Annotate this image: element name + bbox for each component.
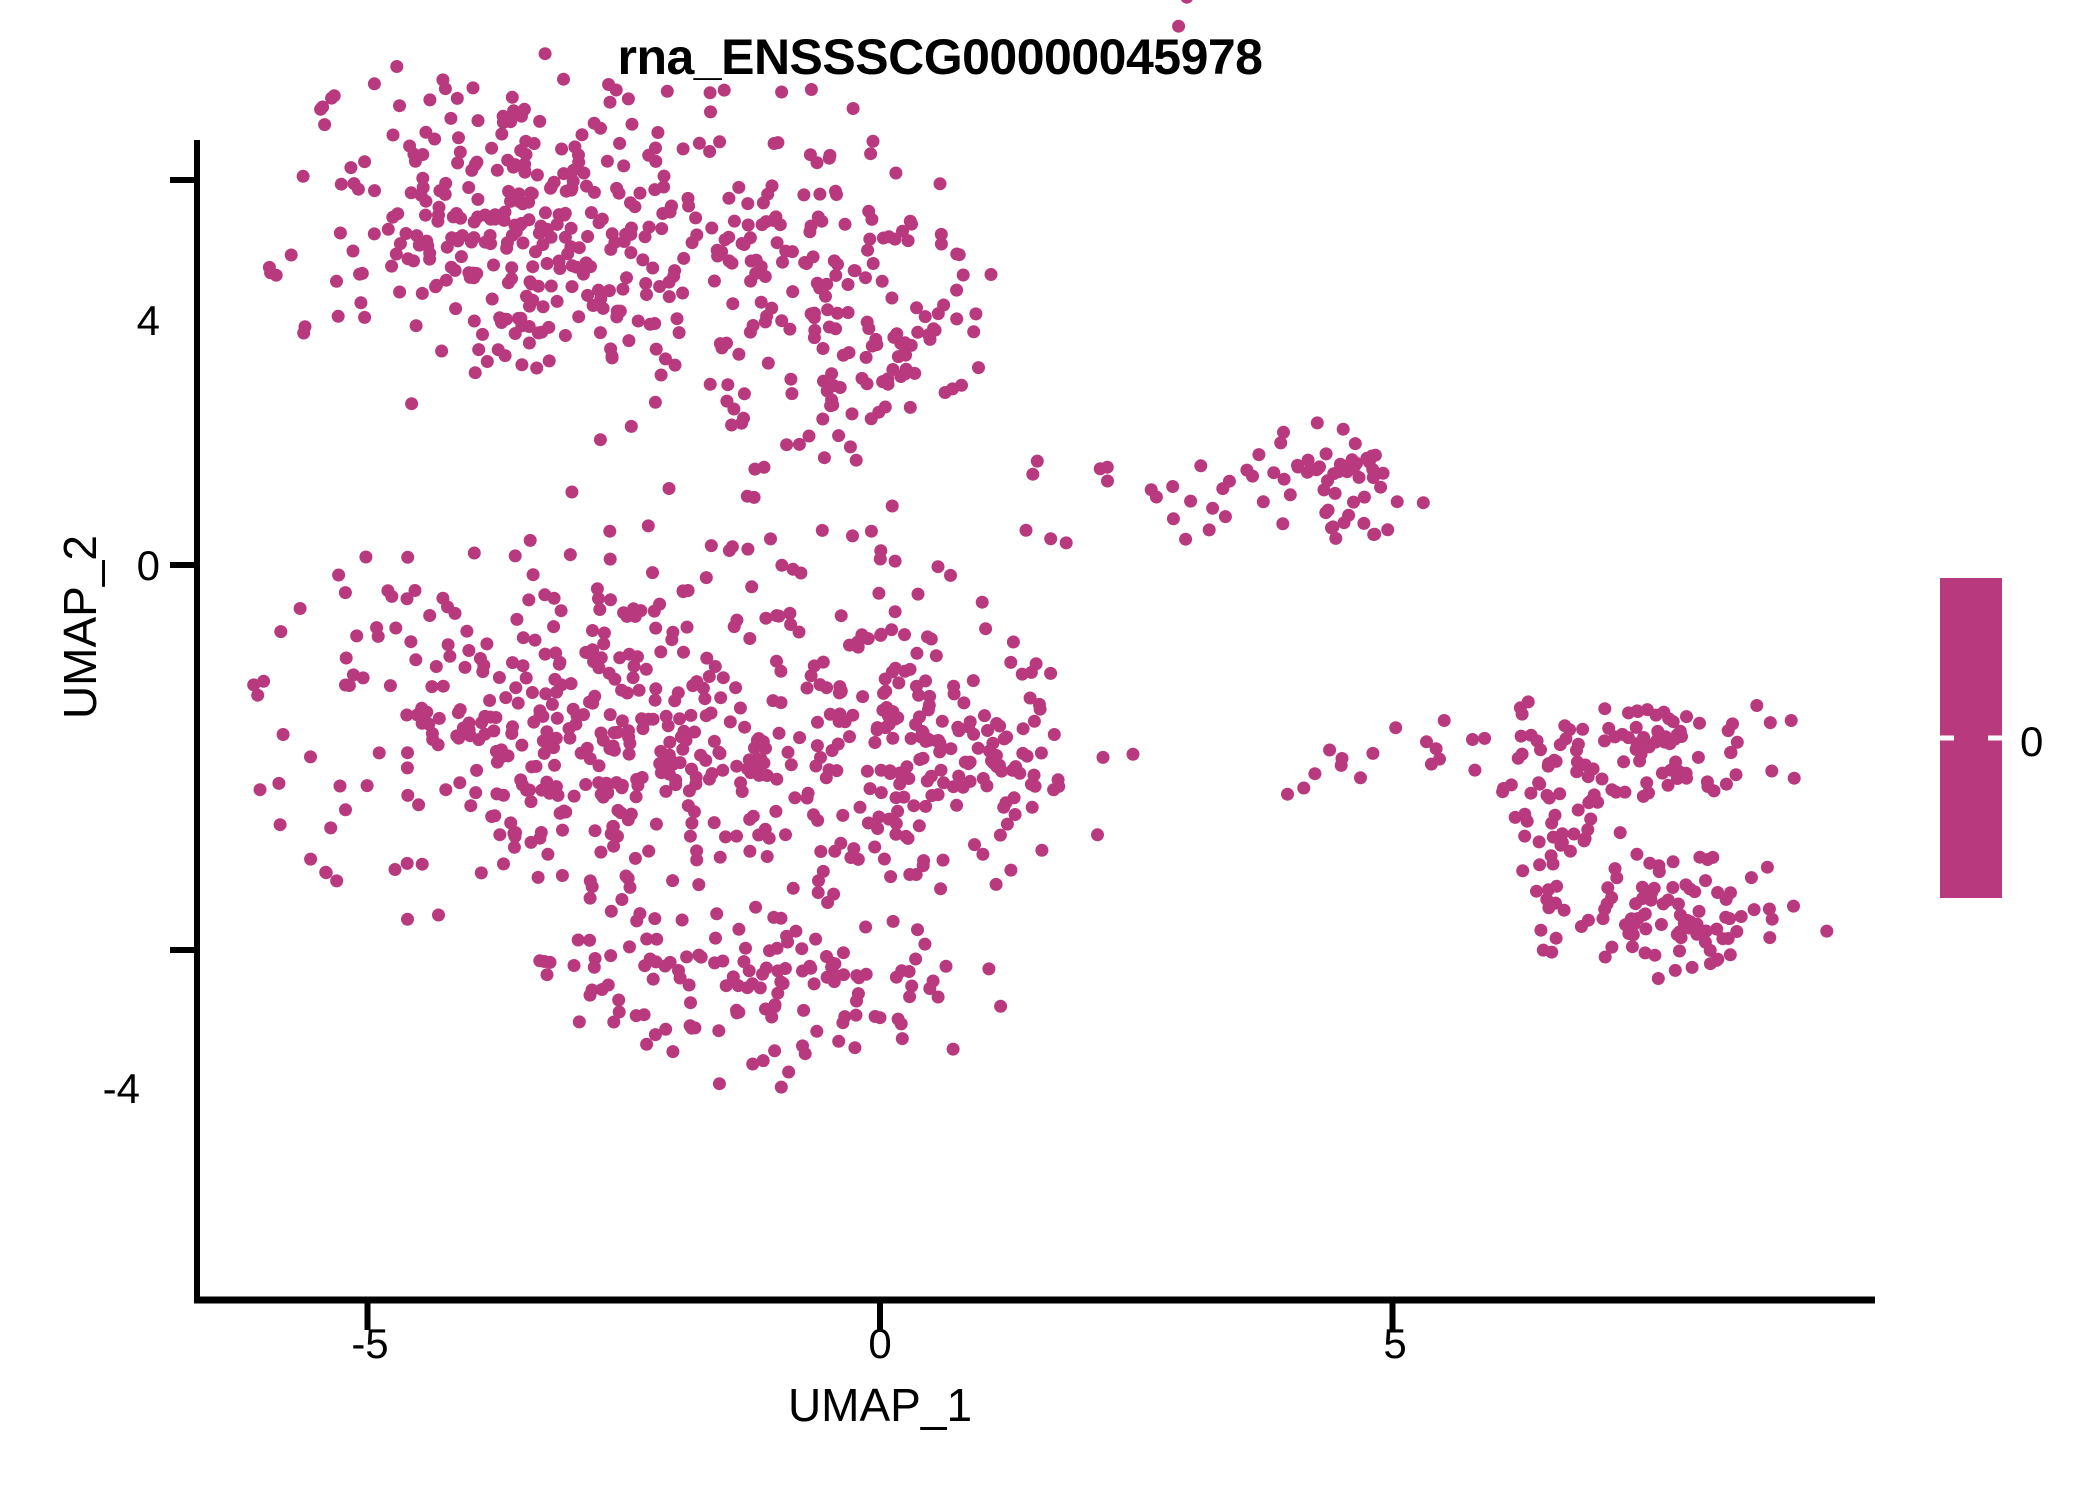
scatter-point <box>831 307 844 320</box>
scatter-point <box>709 660 722 673</box>
scatter-point <box>560 185 573 198</box>
scatter-point <box>304 750 317 763</box>
scatter-point <box>420 706 433 719</box>
scatter-point <box>409 653 422 666</box>
scatter-point <box>957 696 970 709</box>
scatter-point <box>515 319 528 332</box>
scatter-point <box>872 406 885 419</box>
scatter-point <box>937 299 950 312</box>
scatter-point <box>1257 495 1270 508</box>
scatter-point <box>589 824 602 837</box>
scatter-point <box>919 674 932 687</box>
scatter-point <box>669 359 682 372</box>
scatter-point <box>626 118 639 131</box>
scatter-point <box>389 622 402 635</box>
scatter-point <box>889 167 902 180</box>
scatter-point <box>274 818 287 831</box>
scatter-point <box>472 343 485 356</box>
scatter-point <box>385 260 398 273</box>
scatter-point <box>485 142 498 155</box>
scatter-point <box>991 760 1004 773</box>
scatter-point <box>1724 948 1737 961</box>
scatter-point <box>480 637 493 650</box>
scatter-point <box>738 721 751 734</box>
scatter-point <box>821 896 834 909</box>
scatter-point <box>475 866 488 879</box>
scatter-point <box>416 287 429 300</box>
x-tick-label-0: 0 <box>820 1320 940 1368</box>
scatter-point <box>373 746 386 759</box>
scatter-point <box>1028 715 1041 728</box>
scatter-point <box>809 933 822 946</box>
scatter-point <box>708 275 721 288</box>
scatter-point <box>743 632 756 645</box>
scatter-point <box>319 866 332 879</box>
x-tick-label-m5: -5 <box>310 1320 430 1368</box>
scatter-point <box>1533 835 1546 848</box>
scatter-point <box>631 650 644 663</box>
scatter-point <box>1614 826 1627 839</box>
scatter-point <box>1570 744 1583 757</box>
scatter-point <box>390 60 403 73</box>
scatter-point <box>274 625 287 638</box>
scatter-point <box>1337 423 1350 436</box>
scatter-point <box>436 73 449 86</box>
scatter-point <box>1540 893 1553 906</box>
scatter-point <box>835 609 848 622</box>
scatter-point <box>1358 491 1371 504</box>
scatter-point <box>1184 495 1197 508</box>
scatter-point <box>834 837 847 850</box>
scatter-point <box>254 783 267 796</box>
scatter-point <box>846 407 859 420</box>
scatter-point <box>1686 961 1699 974</box>
scatter-point <box>724 715 737 728</box>
scatter-point <box>698 692 711 705</box>
scatter-point <box>1662 779 1675 792</box>
scatter-point <box>1542 760 1555 773</box>
scatter-point <box>433 201 446 214</box>
scatter-point <box>1101 461 1114 474</box>
scatter-point <box>532 871 545 884</box>
scatter-point <box>526 260 539 273</box>
scatter-point <box>1655 918 1668 931</box>
scatter-point <box>495 743 508 756</box>
scatter-point <box>875 764 888 777</box>
scatter-point <box>1720 778 1733 791</box>
scatter-point <box>648 912 661 925</box>
scatter-point <box>764 532 777 545</box>
scatter-point <box>860 351 873 364</box>
scatter-point <box>710 907 723 920</box>
scatter-point <box>828 254 841 267</box>
scatter-point <box>671 312 684 325</box>
scatter-point <box>828 975 841 988</box>
y-axis-label: UMAP_2 <box>53 427 107 827</box>
scatter-point <box>572 310 585 323</box>
scatter-point <box>716 955 729 968</box>
scatter-point <box>1704 944 1717 957</box>
scatter-point <box>1662 894 1675 907</box>
scatter-point <box>890 327 903 340</box>
scatter-point <box>564 548 577 561</box>
scatter-point <box>603 284 616 297</box>
scatter-point <box>763 832 776 845</box>
scatter-point <box>387 129 400 142</box>
scatter-point <box>1353 471 1366 484</box>
scatter-point <box>994 829 1007 842</box>
scatter-point <box>344 161 357 174</box>
scatter-point <box>475 716 488 729</box>
scatter-point <box>776 256 789 269</box>
scatter-point <box>425 680 438 693</box>
scatter-point <box>541 968 554 981</box>
scatter-point <box>836 809 849 822</box>
scatter-point <box>1820 925 1833 938</box>
scatter-point <box>690 228 703 241</box>
scatter-point <box>536 238 549 251</box>
scatter-point <box>299 320 312 333</box>
scatter-point <box>655 369 668 382</box>
scatter-point <box>787 882 800 895</box>
scatter-point <box>767 214 780 227</box>
scatter-point <box>859 921 872 934</box>
scatter-point <box>872 811 885 824</box>
scatter-point <box>612 804 625 817</box>
scatter-point <box>1648 949 1661 962</box>
scatter-point <box>558 805 571 818</box>
scatter-point <box>543 354 556 367</box>
scatter-point <box>889 605 902 618</box>
scatter-point <box>663 482 676 495</box>
scatter-point <box>474 652 487 665</box>
scatter-point <box>1374 481 1387 494</box>
scatter-point <box>530 760 543 773</box>
scatter-point <box>861 316 874 329</box>
scatter-point <box>944 569 957 582</box>
scatter-point <box>779 245 792 258</box>
umap-scatter-figure: rna_ENSSSCG00000045978 UMAP_2 UMAP_1 4 0… <box>0 0 2100 1500</box>
scatter-point <box>1722 724 1735 737</box>
scatter-point <box>1690 928 1703 941</box>
scatter-point <box>530 362 543 375</box>
scatter-point <box>489 711 502 724</box>
scatter-point <box>1044 532 1057 545</box>
scatter-point <box>535 220 548 233</box>
scatter-point <box>575 747 588 760</box>
scatter-point <box>538 955 551 968</box>
scatter-point <box>1558 719 1571 732</box>
scatter-point <box>622 872 635 885</box>
scatter-point <box>542 321 555 334</box>
scatter-point <box>801 792 814 805</box>
scatter-point <box>508 841 521 854</box>
scatter-point <box>572 934 585 947</box>
scatter-point <box>1531 734 1544 747</box>
scatter-point <box>665 633 678 646</box>
scatter-point <box>1338 516 1351 529</box>
scatter-point <box>957 269 970 282</box>
scatter-point <box>705 222 718 235</box>
scatter-point <box>955 379 968 392</box>
scatter-point <box>1645 887 1658 900</box>
scatter-point <box>484 237 497 250</box>
scatter-point <box>788 791 801 804</box>
scatter-point <box>677 252 690 265</box>
scatter-point <box>759 612 772 625</box>
scatter-point <box>573 1015 586 1028</box>
scatter-point <box>1667 855 1680 868</box>
scatter-point <box>1630 848 1643 861</box>
scatter-point <box>1617 755 1630 768</box>
scatter-point <box>605 827 618 840</box>
scatter-point <box>1787 900 1800 913</box>
scatter-point <box>688 805 701 818</box>
scatter-point <box>622 92 635 105</box>
scatter-point <box>1194 459 1207 472</box>
scatter-point <box>743 964 756 977</box>
scatter-point <box>416 717 429 730</box>
scatter-point <box>541 848 554 861</box>
scatter-point <box>1035 844 1048 857</box>
scatter-point <box>588 690 601 703</box>
scatter-point <box>932 560 945 573</box>
scatter-point <box>727 403 740 416</box>
scatter-point <box>401 913 414 926</box>
scatter-point <box>1097 751 1110 764</box>
scatter-point <box>927 975 940 988</box>
scatter-point <box>807 808 820 821</box>
scatter-point <box>384 679 397 692</box>
scatter-point <box>1016 747 1029 760</box>
scatter-point <box>816 413 829 426</box>
scatter-point <box>757 757 770 770</box>
scatter-point <box>553 658 566 671</box>
scatter-point <box>636 771 649 784</box>
scatter-point <box>1554 839 1567 852</box>
scatter-point <box>1699 874 1712 887</box>
scatter-point <box>814 678 827 691</box>
scatter-point <box>565 222 578 235</box>
scatter-point <box>907 799 920 812</box>
scatter-point <box>1601 881 1614 894</box>
scatter-point <box>583 934 596 947</box>
scatter-point <box>663 749 676 762</box>
scatter-point <box>527 568 540 581</box>
scatter-point <box>997 801 1010 814</box>
scatter-point <box>690 853 703 866</box>
scatter-point <box>811 156 824 169</box>
scatter-point <box>483 694 496 707</box>
scatter-point <box>1692 751 1705 764</box>
scatter-point <box>911 326 924 339</box>
scatter-point <box>493 828 506 841</box>
scatter-point <box>584 260 597 273</box>
scatter-point <box>1730 768 1743 781</box>
scatter-point <box>722 192 735 205</box>
scatter-point <box>908 367 921 380</box>
scatter-point <box>368 184 381 197</box>
scatter-point <box>1354 771 1367 784</box>
scatter-point <box>814 845 827 858</box>
colorbar-tick-label: 0 <box>2020 718 2043 766</box>
scatter-point <box>594 433 607 446</box>
scatter-point <box>550 780 563 793</box>
scatter-point <box>843 730 856 743</box>
scatter-point <box>709 932 722 945</box>
scatter-point <box>761 850 774 863</box>
scatter-point <box>1516 864 1529 877</box>
scatter-point <box>604 708 617 721</box>
scatter-point <box>673 712 686 725</box>
scatter-point <box>1496 785 1509 798</box>
scatter-point <box>650 933 663 946</box>
scatter-point <box>649 694 662 707</box>
scatter-point <box>493 671 506 684</box>
scatter-point <box>272 777 285 790</box>
scatter-point <box>933 745 946 758</box>
scatter-point <box>548 759 561 772</box>
scatter-point <box>623 940 636 953</box>
scatter-point <box>1545 849 1558 862</box>
scatter-point <box>666 1045 679 1058</box>
scatter-point <box>1391 495 1404 508</box>
scatter-point <box>607 840 620 853</box>
scatter-point <box>401 761 414 774</box>
scatter-point <box>451 92 464 105</box>
scatter-point <box>335 178 348 191</box>
scatter-point <box>603 742 616 755</box>
scatter-point <box>772 610 785 623</box>
y-tick-label-m4: -4 <box>50 1065 140 1113</box>
scatter-point <box>432 909 445 922</box>
scatter-point <box>1765 765 1778 778</box>
scatter-point <box>1329 487 1342 500</box>
scatter-point <box>757 1054 770 1067</box>
scatter-point <box>416 858 429 871</box>
scatter-point <box>897 791 910 804</box>
scatter-point <box>1318 483 1331 496</box>
colorbar-legend[interactable] <box>1940 578 2002 898</box>
scatter-point <box>550 686 563 699</box>
scatter-point <box>423 609 436 622</box>
scatter-point <box>551 295 564 308</box>
scatter-point <box>1750 699 1763 712</box>
scatter-point <box>509 549 522 562</box>
scatter-point <box>813 188 826 201</box>
scatter-point <box>506 656 519 669</box>
scatter-point <box>604 96 617 109</box>
x-tick-label-5: 5 <box>1335 1320 1455 1368</box>
scatter-point <box>405 397 418 410</box>
scatter-point <box>1582 914 1595 927</box>
scatter-point <box>468 547 481 560</box>
scatter-point <box>638 959 651 972</box>
scatter-point <box>677 142 690 155</box>
scatter-point <box>912 588 925 601</box>
scatter-point <box>1629 897 1642 910</box>
scatter-point <box>1252 448 1265 461</box>
scatter-point <box>1549 809 1562 822</box>
scatter-point <box>757 196 770 209</box>
scatter-point <box>1007 636 1020 649</box>
scatter-point <box>495 316 508 329</box>
scatter-point <box>848 264 861 277</box>
scatter-point <box>783 607 796 620</box>
scatter-point <box>1667 715 1680 728</box>
scatter-point <box>1366 463 1379 476</box>
scatter-point <box>568 959 581 972</box>
scatter-point <box>684 996 697 1009</box>
scatter-point <box>472 114 485 127</box>
scatter-point <box>491 164 504 177</box>
scatter-point <box>705 707 718 720</box>
scatter-point <box>952 724 965 737</box>
scatter-point <box>1675 730 1688 743</box>
scatter-point <box>404 635 417 648</box>
scatter-point <box>350 629 363 642</box>
scatter-point <box>596 983 609 996</box>
scatter-point <box>1276 517 1289 530</box>
scatter-point <box>979 622 992 635</box>
scatter-point <box>598 627 611 640</box>
scatter-point <box>633 907 646 920</box>
scatter-point <box>925 789 938 802</box>
scatter-point <box>829 322 842 335</box>
scatter-point <box>442 638 455 651</box>
scatter-point <box>615 684 628 697</box>
scatter-point <box>1346 453 1359 466</box>
scatter-point <box>488 809 501 822</box>
plot-panel <box>0 0 2100 1500</box>
scatter-point <box>783 323 796 336</box>
scatter-point <box>642 149 655 162</box>
scatter-point <box>642 713 655 726</box>
scatter-point <box>463 267 476 280</box>
scatter-point <box>867 135 880 148</box>
scatter-point <box>730 830 743 843</box>
scatter-point <box>1532 776 1545 789</box>
scatter-point <box>1360 452 1373 465</box>
scatter-point <box>1281 788 1294 801</box>
scatter-point <box>754 981 767 994</box>
scatter-point <box>1284 488 1297 501</box>
scatter-point <box>433 712 446 725</box>
scatter-point <box>655 222 668 235</box>
scatter-point <box>570 261 583 274</box>
scatter-point <box>950 284 963 297</box>
scatter-point <box>808 331 821 344</box>
scatter-point <box>625 222 638 235</box>
scatter-point <box>704 105 717 118</box>
scatter-point <box>771 136 784 149</box>
scatter-point <box>330 874 343 887</box>
scatter-point <box>803 430 816 443</box>
scatter-point <box>741 197 754 210</box>
scatter-point <box>836 1016 849 1029</box>
scatter-point <box>596 213 609 226</box>
scatter-point <box>990 878 1003 891</box>
scatter-point <box>468 216 481 229</box>
scatter-point <box>649 622 662 635</box>
scatter-point <box>589 952 602 965</box>
scatter-point <box>285 249 298 262</box>
scatter-point <box>469 786 482 799</box>
scatter-point <box>1417 496 1430 509</box>
scatter-point <box>885 623 898 636</box>
scatter-point <box>428 133 441 146</box>
scatter-point <box>568 790 581 803</box>
